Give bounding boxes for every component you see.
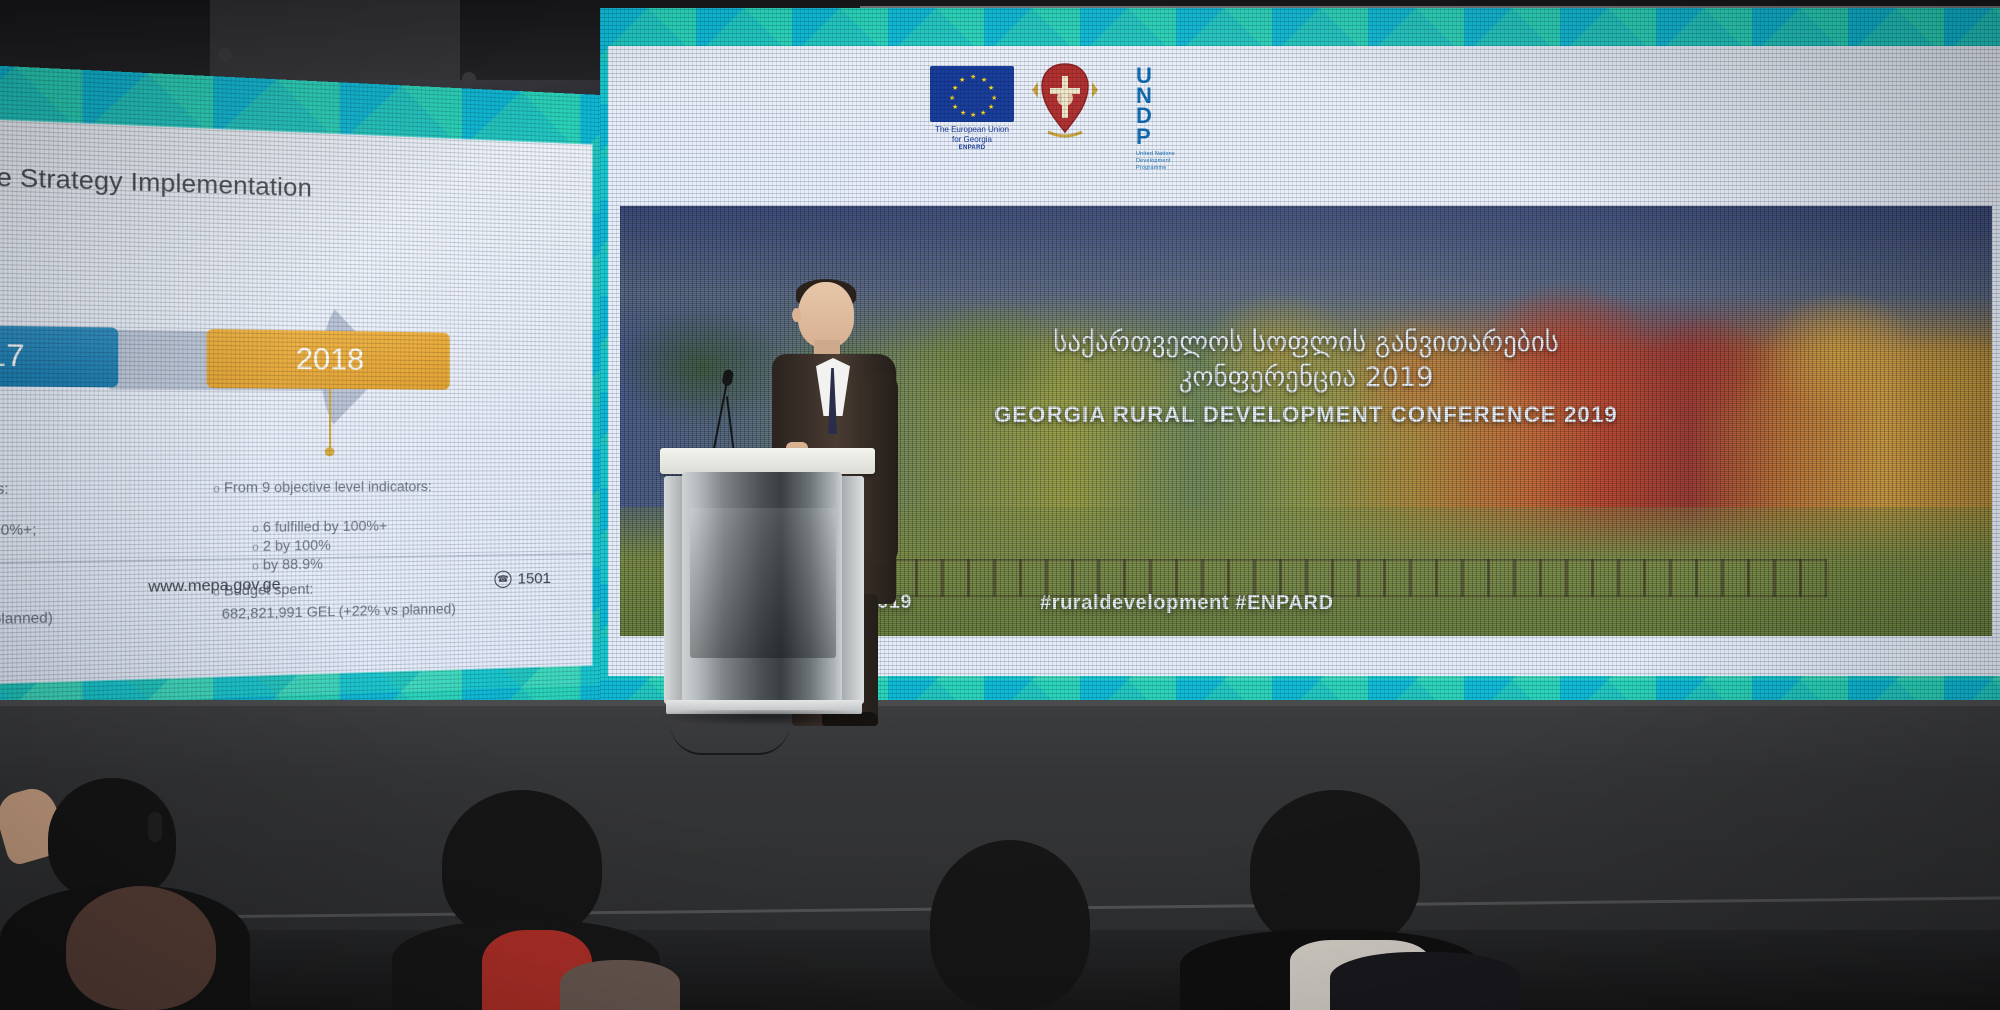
- undp-logo: U N D P United Nations Development Progr…: [1136, 66, 1198, 172]
- european-union-logo: ★ ★ ★ ★ ★ ★ ★ ★ ★ ★ ★ ★ The Europe: [930, 66, 1014, 153]
- bullet-right-2: o 2 by 100%: [252, 536, 331, 556]
- budget-left-value: EL (+38.3% vs planned): [0, 609, 53, 633]
- year-badge-2018: 2018: [207, 329, 450, 390]
- budget-left-text: EL (+38.3% vs planned): [0, 610, 53, 630]
- footer-website: www.mepa.gov.ge: [148, 576, 280, 596]
- bullet-left-0-text: r level indicators:: [0, 481, 9, 498]
- bullet-right-0-text: From 9 objective level indicators:: [224, 479, 432, 496]
- speaker-ear: [792, 308, 801, 322]
- stage-floor-edge: [0, 700, 2000, 706]
- budget-right-value: 682,821,991 GEL (+22% vs planned): [222, 600, 456, 625]
- footer-phone: ☎ 1501: [494, 570, 551, 588]
- undp-letter-p: P: [1136, 127, 1198, 147]
- bullet-marker: o: [252, 523, 259, 536]
- eu-caption-line1: The European Union: [935, 125, 1009, 134]
- audience-head: [560, 960, 680, 1010]
- budget-right-text: 682,821,991 GEL (+22% vs planned): [222, 601, 456, 622]
- bullet-marker: o: [213, 483, 220, 496]
- audience-head: [66, 886, 216, 1010]
- podium-glass-insert: [690, 508, 836, 658]
- eu-caption-line2: for Georgia: [952, 135, 992, 144]
- audience-head: [442, 790, 602, 940]
- eu-logo-caption: The European Union for Georgia ENPARD: [930, 125, 1014, 153]
- bullet-marker: o: [252, 541, 259, 554]
- slide-title: ults of the Strategy Implementation: [0, 159, 312, 203]
- logo-row: ★ ★ ★ ★ ★ ★ ★ ★ ★ ★ ★ ★ The Europe: [608, 46, 2000, 166]
- year-badge-2017: 2017: [0, 324, 118, 388]
- ceiling-fixture: [462, 72, 476, 86]
- connector-line-2018: [329, 389, 331, 449]
- georgia-coat-of-arms-logo: [1028, 60, 1102, 138]
- bullet-left-1-text: d by 100% or 100%+;: [0, 522, 36, 540]
- bullet-right-0: o From 9 objective level indicators:: [213, 478, 432, 499]
- microphone-cable: [670, 723, 790, 755]
- bullet-right-1: o 6 fulfilled by 100%+: [252, 517, 387, 538]
- footer-phone-number: 1501: [518, 570, 551, 588]
- phone-icon: ☎: [494, 571, 511, 589]
- ceiling-fixture: [218, 48, 232, 62]
- conference-stage-photo: ults of the Strategy Implementation 2017…: [0, 0, 2000, 1010]
- audience-headset-icon: [148, 812, 162, 842]
- presentation-slide-results: ults of the Strategy Implementation 2017…: [0, 117, 592, 686]
- bullet-right-1-text: 6 fulfilled by 100%+: [263, 518, 387, 535]
- bullet-right-2-text: 2 by 100%: [263, 537, 331, 554]
- bullet-left-1: d by 100% or 100%+;: [0, 520, 36, 542]
- speaker-head: [798, 282, 854, 348]
- audience-head: [930, 840, 1090, 1010]
- audience-shoulders: [1330, 952, 1520, 1010]
- audience-head: [1250, 790, 1420, 950]
- bullet-marker: o: [252, 560, 259, 573]
- undp-caption: United Nations Development Programme: [1136, 151, 1198, 172]
- speaker-podium: [660, 448, 875, 733]
- bullet-left-0: r level indicators:: [0, 480, 9, 501]
- eu-flag-icon: ★ ★ ★ ★ ★ ★ ★ ★ ★ ★ ★ ★: [930, 66, 1014, 122]
- podium-top-surface: [660, 448, 875, 474]
- connector-dot-2018: [325, 447, 335, 456]
- eu-caption-line3: ENPARD: [930, 145, 1014, 153]
